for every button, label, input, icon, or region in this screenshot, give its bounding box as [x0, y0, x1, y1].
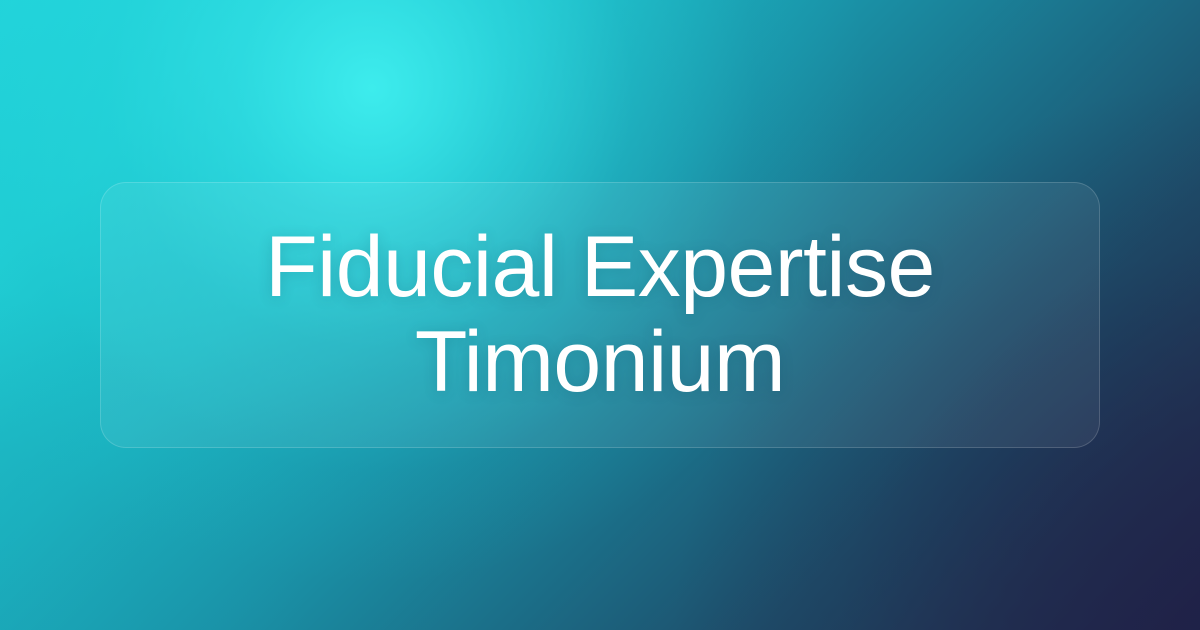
title-card: Fiducial Expertise Timonium [100, 182, 1100, 448]
banner-root: Fiducial Expertise Timonium [0, 0, 1200, 630]
page-title: Fiducial Expertise Timonium [265, 220, 935, 409]
